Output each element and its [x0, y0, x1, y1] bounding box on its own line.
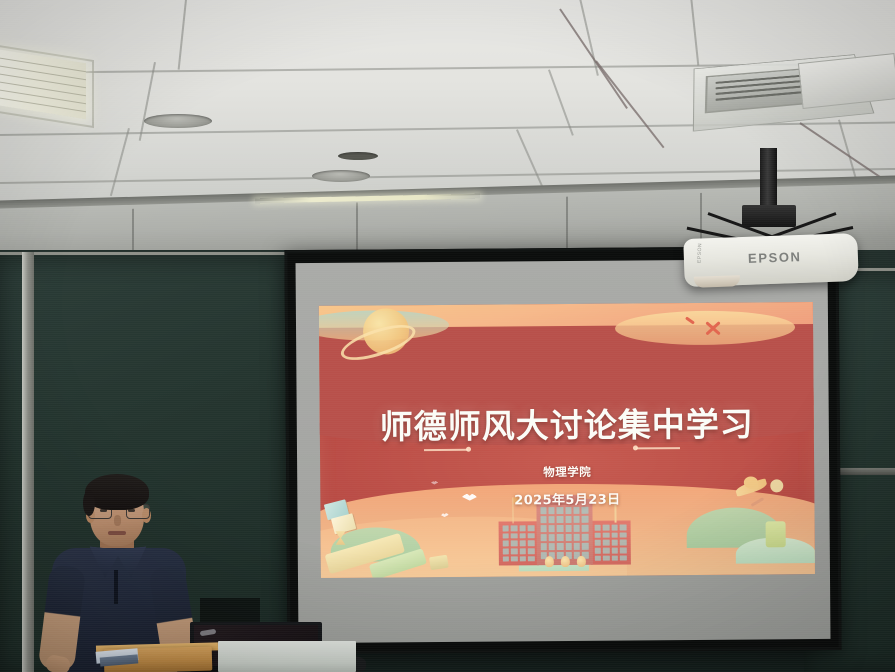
chalkboard-frame-left: [22, 252, 34, 672]
podium-front-panel: [218, 641, 356, 672]
projected-slide: 师德师风大讨论集中学习 物理学院 2025年5月23日: [319, 302, 815, 578]
projection-screen: 师德师风大讨论集中学习 物理学院 2025年5月23日: [284, 246, 841, 654]
hair: [85, 474, 149, 510]
shirt-placket: [114, 570, 118, 604]
divider-dash-left: [424, 449, 468, 451]
eraser-icon: [429, 555, 449, 571]
presenter: [44, 474, 194, 672]
slide-organization: 物理学院: [320, 462, 814, 482]
divider-dash-right: [636, 447, 680, 449]
slide-title: 师德师风大讨论集中学习: [320, 397, 814, 449]
slide-date: 2025年5月23日: [320, 487, 814, 510]
ac-unit-side: [798, 53, 895, 109]
projector-mount-pole: [760, 148, 777, 210]
lecture-hall-photo: 师德师风大讨论集中学习 物理学院 2025年5月23日 EPSON EPSON: [0, 0, 895, 672]
projector-side-label: EPSON: [697, 243, 704, 263]
projector-lens: [694, 275, 740, 288]
projector-brand-label: EPSON: [748, 249, 802, 266]
ceiling-speaker-icon: [144, 114, 212, 128]
ceiling-speaker-icon: [312, 170, 370, 182]
graduate-figure-icon: [765, 521, 785, 547]
lamp-icon: [545, 556, 554, 567]
mouth: [108, 531, 126, 535]
nose: [114, 515, 121, 526]
screen-surface: 师德师风大讨论集中学习 物理学院 2025年5月23日: [296, 259, 831, 643]
lamp-icon: [577, 556, 586, 567]
lamp-icon: [561, 556, 570, 567]
ceiling-vent-icon: [338, 152, 378, 160]
